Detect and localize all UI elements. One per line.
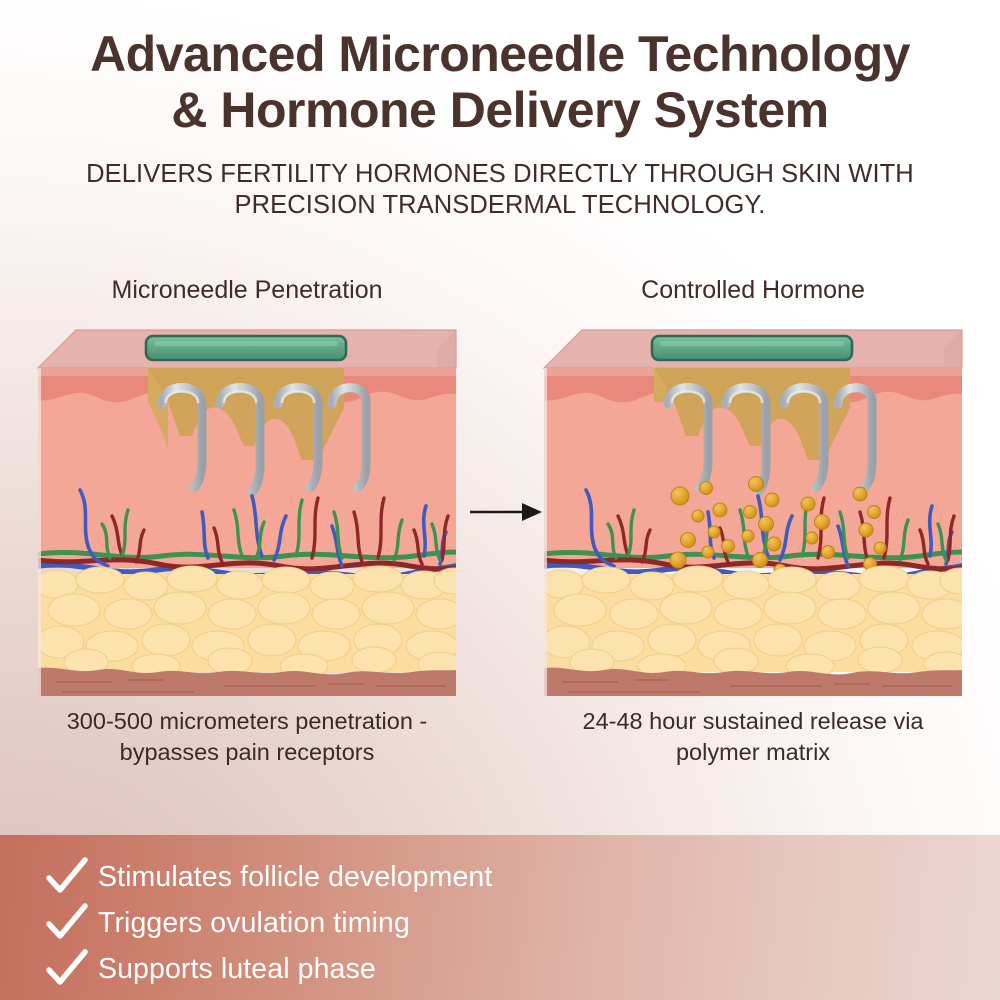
infographic-page: Advanced Microneedle Technology & Hormon… [0,0,1000,1000]
skin-diagram-svg [16,316,478,698]
benefits-bar: Stimulates follicle development Triggers… [0,835,1000,1000]
caption-line-1: 24-48 hour sustained release via [532,706,974,737]
diagram-panels: Microneedle Penetration [0,278,1000,823]
subtitle-line-1: DELIVERS FERTILITY HORMONES DIRECTLY THR… [35,159,965,190]
panel-microneedle-penetration: Microneedle Penetration [16,278,478,823]
header: Advanced Microneedle Technology & Hormon… [0,26,1000,221]
benefit-label: Triggers ovulation timing [98,909,410,938]
check-mark-icon [44,903,90,943]
subtitle-line-2: PRECISION TRANSDERMAL TECHNOLOGY. [35,190,965,221]
caption-line-2: polymer matrix [532,737,974,768]
title-line-2: & Hormone Delivery System [30,82,970,138]
page-subtitle: DELIVERS FERTILITY HORMONES DIRECTLY THR… [35,159,965,221]
skin-diagram-svg [522,316,984,698]
skin-cross-section-diagram-left [16,316,478,698]
microneedle-patch [652,336,852,360]
panel-caption: 300-500 micrometers penetration - bypass… [16,706,478,769]
check-mark-icon [44,949,90,989]
block-left-edge [38,368,41,696]
benefit-item: Triggers ovulation timing [44,901,1000,945]
benefit-label: Stimulates follicle development [98,863,492,892]
skin-cross-section-diagram-right [522,316,984,698]
panel-caption: 24-48 hour sustained release via polymer… [522,706,984,769]
benefit-item: Stimulates follicle development [44,855,1000,899]
flow-arrow [466,492,546,532]
caption-line-2: bypasses pain receptors [26,737,468,768]
title-line-1: Advanced Microneedle Technology [30,26,970,82]
benefit-item: Supports luteal phase [44,947,1000,991]
benefit-label: Supports luteal phase [98,955,376,984]
panel-label: Controlled Hormone [522,278,984,303]
microneedle-patch [146,336,346,360]
panel-label: Microneedle Penetration [16,278,478,303]
arrow-right-icon [466,492,546,532]
caption-line-1: 300-500 micrometers penetration - [26,706,468,737]
check-mark-icon [44,857,90,897]
page-title: Advanced Microneedle Technology & Hormon… [30,26,970,138]
panel-controlled-hormone: Controlled Hormone [522,278,984,823]
